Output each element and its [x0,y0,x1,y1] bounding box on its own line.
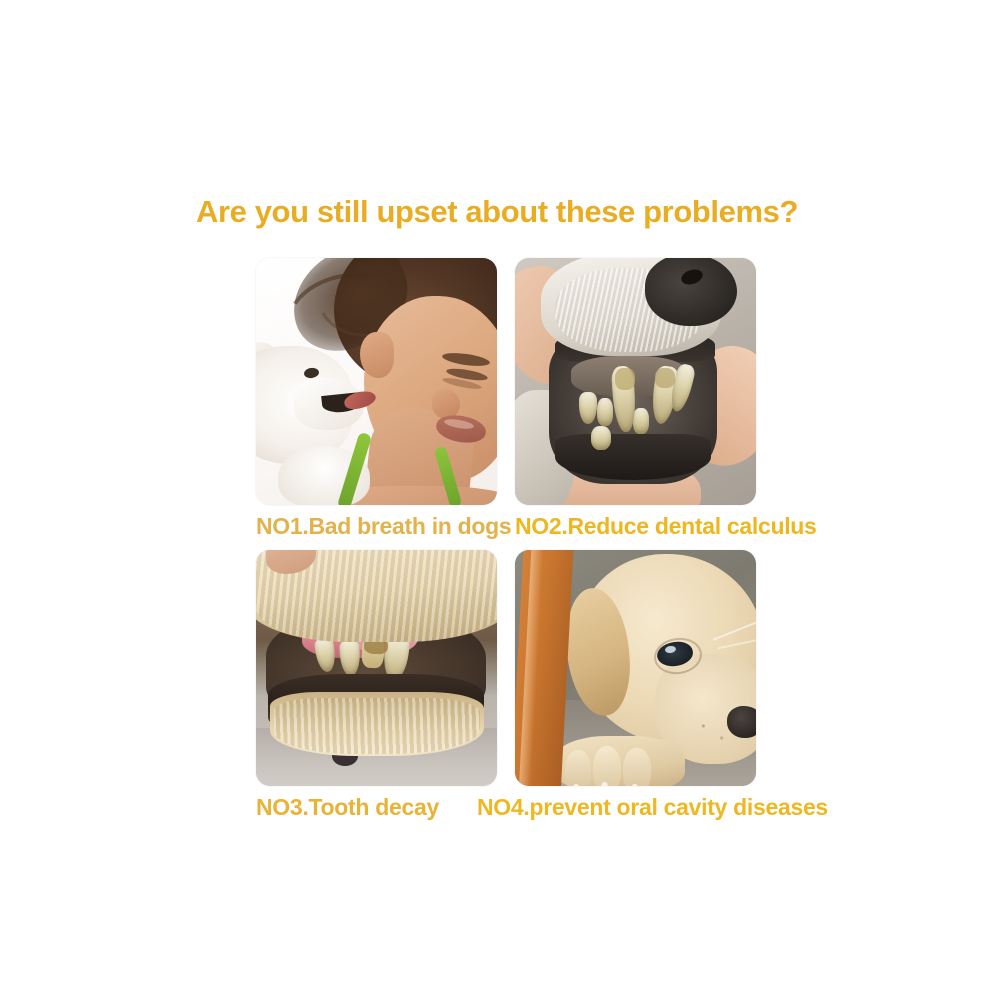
illustration-dog-licking-woman [256,258,497,505]
problem-grid: NO1.Bad breath in dogs [256,258,754,786]
grid-cell-no1: NO1.Bad breath in dogs [256,258,497,505]
grid-cell-no3: NO3.Tooth decay [256,550,497,786]
illustration-labrador-puppy [515,550,756,786]
image-tile-labrador-puppy [515,550,756,786]
image-tile-tooth-decay [256,550,497,786]
caption-no2: NO2.Reduce dental calculus [515,511,817,541]
image-tile-dog-licking-woman [256,258,497,505]
illustration-dog-mouth-tartar [515,258,756,505]
grid-cell-no2: NO2.Reduce dental calculus [515,258,756,505]
content-clip: Are you still upset about these problems… [0,0,1000,1000]
promo-page: Are you still upset about these problems… [0,0,1000,1000]
caption-no3: NO3.Tooth decay [256,792,439,822]
page-title: Are you still upset about these problems… [196,192,856,232]
caption-no1: NO1.Bad breath in dogs [256,511,511,541]
illustration-dog-tooth-decay [256,550,497,786]
grid-cell-no4: NO4.prevent oral cavity diseases [515,550,756,786]
image-tile-dog-dental-calculus [515,258,756,505]
caption-no4: NO4.prevent oral cavity diseases [477,792,828,822]
